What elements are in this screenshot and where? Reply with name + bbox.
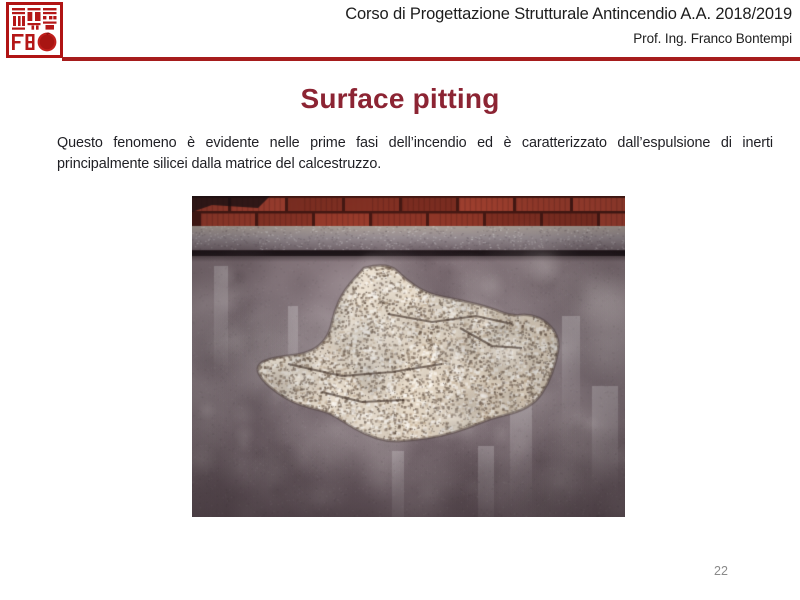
page-number: 22 xyxy=(714,564,754,578)
header-text-block: Corso di Progettazione Strutturale Antin… xyxy=(72,4,792,48)
concrete-pitting-photo xyxy=(192,196,625,517)
header-course-title: Corso di Progettazione Strutturale Antin… xyxy=(72,4,792,24)
page-title: Surface pitting xyxy=(0,83,800,115)
slide-header: Corso di Progettazione Strutturale Antin… xyxy=(0,0,800,62)
header-lecturer: Prof. Ing. Franco Bontempi xyxy=(72,29,792,48)
seal-logo-glyphs xyxy=(9,5,60,55)
body-paragraph: Questo fenomeno è evidente nelle prime f… xyxy=(57,133,773,174)
concrete-pitting-photo-canvas xyxy=(192,196,625,517)
seal-logo xyxy=(6,2,63,58)
header-divider-rule xyxy=(62,57,800,61)
